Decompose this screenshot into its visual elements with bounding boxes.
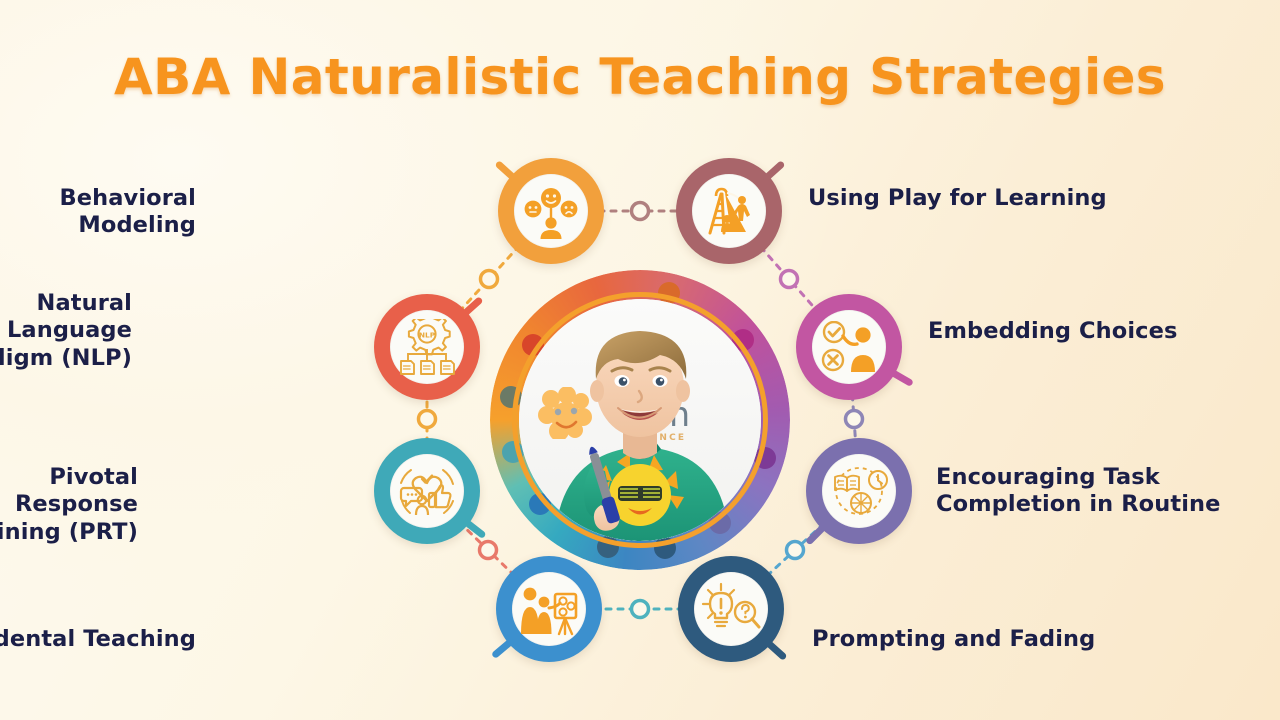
center-photo-medallion: tism ENCE xyxy=(490,270,790,570)
node-using-play-for-learning[interactable] xyxy=(676,158,782,264)
magnifier-handle xyxy=(805,522,828,545)
center-photo: tism ENCE xyxy=(519,299,761,541)
label-pivotal-response-training: Pivotal Response Training (PRT) xyxy=(0,464,138,546)
magnifier-handle xyxy=(762,160,786,183)
node-prompting-and-fading[interactable] xyxy=(678,556,784,662)
node-pivotal-response-training[interactable] xyxy=(374,438,480,544)
nlp-gear-documents-icon: NLP xyxy=(398,319,456,375)
label-incidental-teaching: Incidental Teaching xyxy=(0,626,196,653)
node-icon-disc xyxy=(512,572,586,646)
page-title: ABA Naturalistic Teaching Strategies xyxy=(0,48,1280,106)
magnifier-handle xyxy=(460,296,484,319)
connector-nlp-to-behavioral-hub xyxy=(419,411,436,428)
svg-text:NLP: NLP xyxy=(419,330,436,339)
node-behavioral-modeling[interactable] xyxy=(498,158,604,264)
node-embedding-choices[interactable] xyxy=(796,294,902,400)
label-embedding-choices: Embedding Choices xyxy=(928,318,1228,345)
label-using-play-for-learning: Using Play for Learning xyxy=(808,185,1108,212)
magnifier-handle xyxy=(491,637,515,659)
playground-slide-icon xyxy=(700,184,758,238)
child-photo-illustration xyxy=(519,299,761,541)
magnifier-handle xyxy=(494,160,518,183)
lightbulb-magnifier-icon xyxy=(701,582,761,636)
label-behavioral-modeling: Behavioral Modeling xyxy=(0,185,196,240)
node-encouraging-task-completion[interactable] xyxy=(806,438,912,544)
connector-incidental-to-prt-hub xyxy=(632,601,649,618)
node-icon-disc xyxy=(812,310,886,384)
node-icon-disc xyxy=(514,174,588,248)
connector-task-to-prompting-hub xyxy=(846,411,863,428)
node-icon-disc xyxy=(390,454,464,528)
choice-check-cross-icon xyxy=(820,321,878,373)
magnifier-handle xyxy=(462,518,487,540)
label-encouraging-task-completion: Encouraging Task Completion in Routine xyxy=(936,464,1236,519)
node-icon-disc xyxy=(692,174,766,248)
label-natural-language-paradigm: Natural Language Paradigm (NLP) xyxy=(0,290,132,372)
easel-teaching-icon xyxy=(519,582,579,636)
node-incidental-teaching[interactable] xyxy=(496,556,602,662)
node-natural-language-paradigm[interactable]: NLP xyxy=(374,294,480,400)
magnifier-handle xyxy=(888,368,914,387)
heart-speech-thumb-icon xyxy=(398,463,456,519)
node-icon-disc: NLP xyxy=(390,310,464,384)
node-icon-disc xyxy=(694,572,768,646)
connector-play-to-choices-hub xyxy=(632,203,649,220)
faces-modeling-icon xyxy=(522,182,580,240)
node-icon-disc xyxy=(822,454,896,528)
book-clock-ball-icon xyxy=(829,463,889,519)
label-prompting-and-fading: Prompting and Fading xyxy=(812,626,1112,653)
magnifier-handle xyxy=(764,638,788,661)
infographic-canvas: ABA Naturalistic Teaching Strategies Beh… xyxy=(0,0,1280,720)
